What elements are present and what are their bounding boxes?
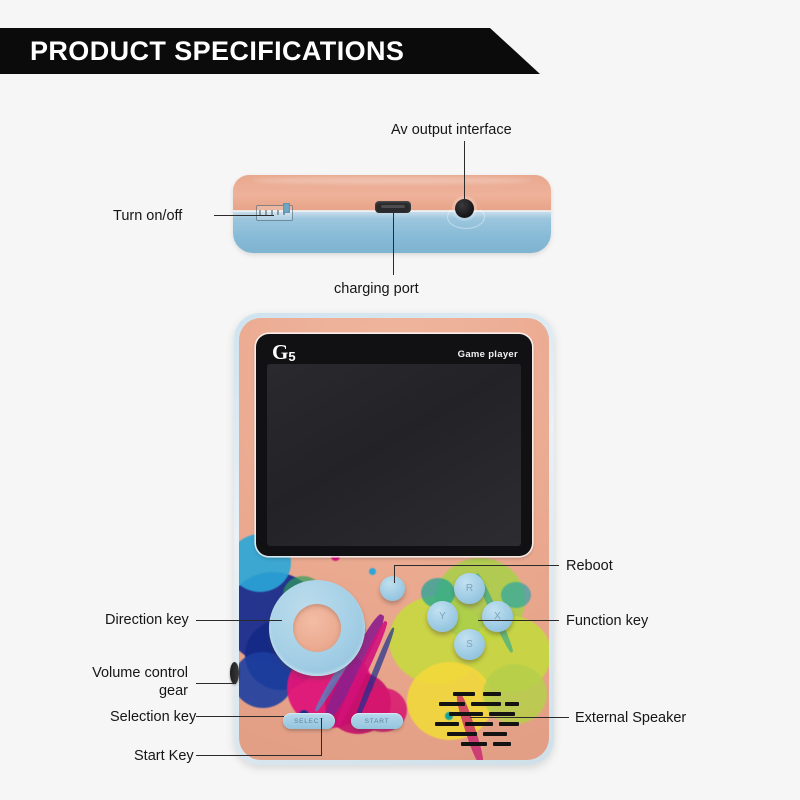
leader-direction-key bbox=[196, 620, 282, 621]
callout-external-speaker: External Speaker bbox=[575, 709, 686, 727]
callout-turn-on-off: Turn on/off bbox=[113, 207, 182, 225]
screen-bezel: G5 Game player bbox=[256, 334, 532, 556]
function-key-x[interactable]: X bbox=[482, 601, 513, 632]
leader-external-speaker bbox=[470, 717, 569, 718]
function-key-s[interactable]: S bbox=[454, 629, 485, 660]
callout-selection-key: Selection key bbox=[110, 708, 196, 726]
leader-selection-key bbox=[196, 716, 284, 717]
reboot-button[interactable] bbox=[380, 576, 405, 601]
header-banner: PRODUCT SPECIFICATIONS bbox=[0, 28, 540, 74]
external-speaker bbox=[435, 690, 523, 752]
start-key-button[interactable]: START bbox=[351, 713, 403, 729]
leader-av-output bbox=[464, 141, 465, 205]
charging-port-icon[interactable] bbox=[375, 201, 411, 213]
leader-start-key-riser bbox=[321, 718, 322, 756]
top-view-shell bbox=[233, 175, 551, 253]
leader-reboot bbox=[395, 565, 559, 566]
leader-turn-on-off bbox=[214, 215, 274, 216]
callout-volume-control: Volume control gear bbox=[68, 664, 188, 700]
function-key-r[interactable]: R bbox=[454, 573, 485, 604]
volume-control-gear[interactable] bbox=[230, 662, 239, 684]
callout-av-output: Av output interface bbox=[391, 121, 512, 139]
leader-volume-control bbox=[196, 683, 236, 684]
page-title: PRODUCT SPECIFICATIONS bbox=[0, 36, 404, 67]
callout-function-key: Function key bbox=[566, 612, 648, 630]
handheld-console: G5 Game player R Y X S SELECT START bbox=[234, 313, 554, 765]
lcd-screen bbox=[267, 364, 521, 546]
callout-direction-key: Direction key bbox=[105, 611, 189, 629]
brand-logo-number: 5 bbox=[288, 349, 295, 364]
direction-key-center[interactable] bbox=[293, 604, 341, 652]
callout-reboot: Reboot bbox=[566, 557, 613, 575]
function-key-y[interactable]: Y bbox=[427, 601, 458, 632]
brand-logo-g5: G5 bbox=[272, 340, 296, 365]
selection-key-button[interactable]: SELECT bbox=[283, 713, 335, 729]
direction-key[interactable] bbox=[269, 580, 365, 676]
power-switch-nub[interactable] bbox=[283, 203, 290, 213]
console-shell: G5 Game player R Y X S SELECT START bbox=[239, 318, 549, 760]
callout-charging-port: charging port bbox=[334, 280, 419, 298]
brand-logo-letter: G bbox=[272, 340, 288, 364]
leader-function-key bbox=[478, 620, 559, 621]
leader-charging-port bbox=[393, 213, 394, 275]
top-edge-view bbox=[233, 175, 551, 253]
leader-reboot-riser bbox=[394, 565, 395, 583]
infographic-canvas: PRODUCT SPECIFICATIONS Turn on/off Av ou… bbox=[0, 0, 800, 800]
leader-start-key bbox=[196, 755, 322, 756]
callout-start-key: Start Key bbox=[134, 747, 194, 765]
brand-label-game-player: Game player bbox=[458, 349, 518, 360]
